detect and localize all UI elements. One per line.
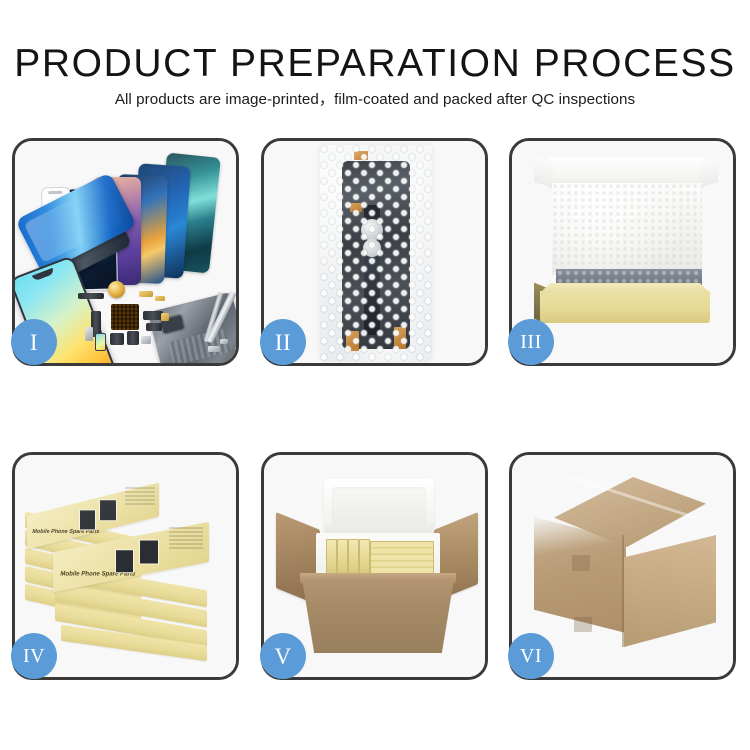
carton-tab-lower xyxy=(574,617,592,632)
step-badge-5: V xyxy=(260,633,306,679)
step-panel-1: I xyxy=(12,138,239,366)
step-panel-2: II xyxy=(261,138,488,366)
step-badge-4: IV xyxy=(11,633,57,679)
component-speaker-coil xyxy=(108,281,125,298)
step-panel-4: Mobile Phone Spare Parts Mobile Phone Sp… xyxy=(12,452,239,680)
packed-yellow-boxes xyxy=(326,537,432,577)
box-label-chip-4 xyxy=(139,540,159,565)
foam-box-lid xyxy=(324,479,434,537)
step-panel-6: VI xyxy=(509,452,736,680)
component-metal-shield xyxy=(141,336,151,344)
step-panel-3: III xyxy=(509,138,736,366)
step-numeral-2: II xyxy=(275,331,291,354)
box-label-text-lines-front xyxy=(169,527,203,549)
component-camera-module xyxy=(110,333,124,345)
step-numeral-3: III xyxy=(520,331,541,354)
step-numeral-1: I xyxy=(30,331,38,354)
step-numeral-6: VI xyxy=(520,645,542,668)
component-gold-clip-2 xyxy=(155,296,165,301)
component-gold-contact xyxy=(161,313,169,321)
step-numeral-4: IV xyxy=(23,645,45,668)
component-flex-cable-4 xyxy=(146,323,162,331)
step-badge-2: II xyxy=(260,319,306,365)
box-label-chip-1 xyxy=(79,509,96,530)
component-flex-cable-1 xyxy=(78,293,104,299)
component-screws xyxy=(208,346,220,352)
product-preparation-infographic: PRODUCT PREPARATION PROCESS All products… xyxy=(0,0,750,750)
box-label-text-lines-back xyxy=(125,487,155,505)
carton-vertical-edge xyxy=(622,535,624,647)
carton-tab-upper xyxy=(572,555,590,571)
yellow-boxes-flat-stack xyxy=(370,541,434,577)
inner-box-open xyxy=(532,157,718,329)
steps-grid: I II xyxy=(12,138,738,680)
component-screw-tray xyxy=(111,304,139,330)
foam-sheet xyxy=(552,183,702,275)
component-flex-cable-3 xyxy=(143,311,163,320)
component-gold-clip xyxy=(139,291,153,297)
box-base-yellow xyxy=(540,291,710,323)
box-label-chip-2 xyxy=(99,499,117,521)
step-badge-1: I xyxy=(11,319,57,365)
carton-right-face xyxy=(624,535,716,647)
open-carton xyxy=(276,473,478,665)
page-title: PRODUCT PREPARATION PROCESS xyxy=(0,44,750,83)
step-numeral-5: V xyxy=(274,645,291,668)
step-panel-5: V xyxy=(261,452,488,680)
box-stack: Mobile Phone Spare Parts Mobile Phone Sp… xyxy=(21,477,235,663)
page-subtitle: All products are image-printed，film-coat… xyxy=(0,90,750,109)
bubble-wrap-bag xyxy=(320,145,432,361)
box-label-chip-3 xyxy=(115,549,134,573)
component-mini-display xyxy=(95,333,106,351)
component-vibrator xyxy=(127,331,139,345)
component-screws-2 xyxy=(220,339,228,344)
sealed-carton xyxy=(530,477,722,663)
bubble-texture-highlight xyxy=(320,145,432,361)
step-badge-6: VI xyxy=(508,633,554,679)
component-bracket xyxy=(85,327,93,341)
step-badge-3: III xyxy=(508,319,554,365)
carton-front-panel xyxy=(302,579,454,653)
